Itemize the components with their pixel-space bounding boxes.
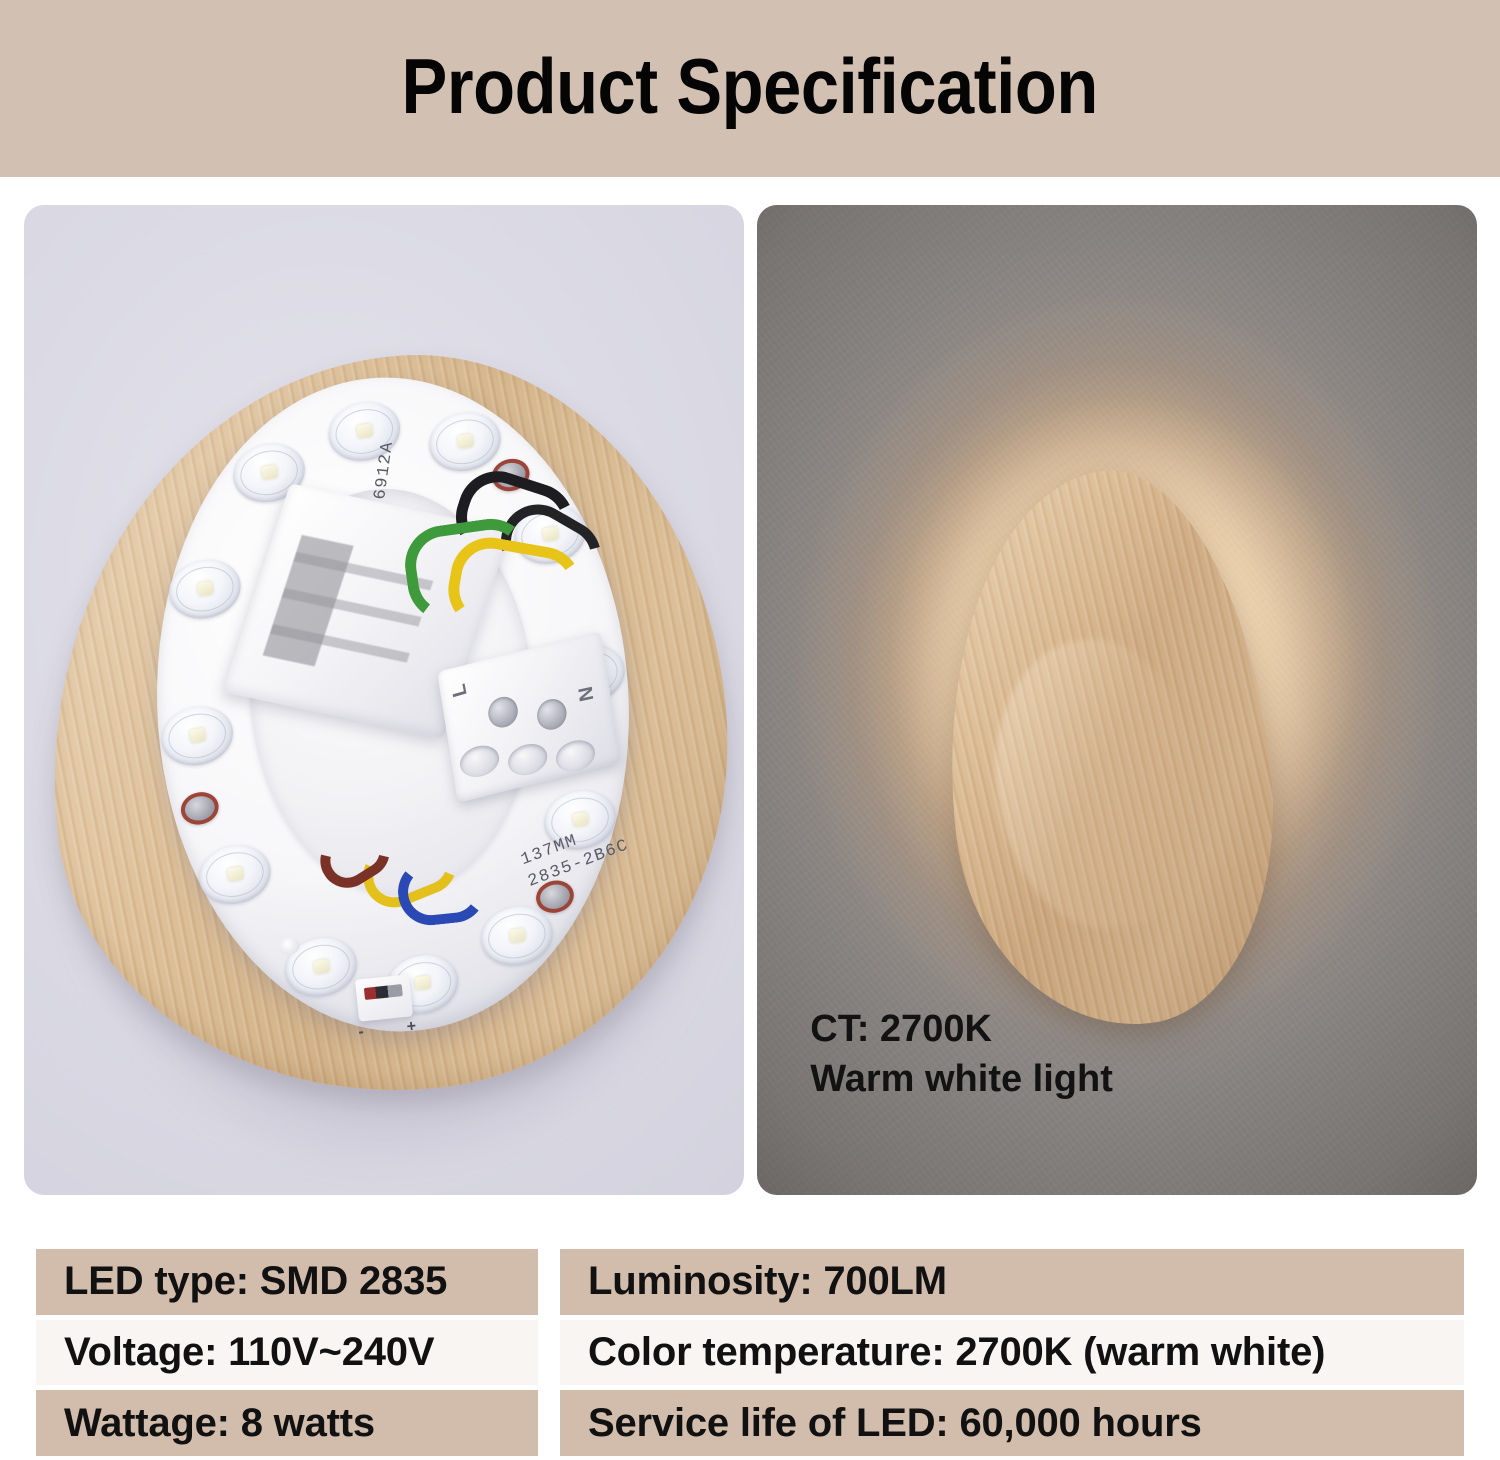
terminal-label-l: L (448, 681, 473, 699)
led-lens (426, 408, 503, 477)
led-lens (478, 902, 555, 971)
lit-sconce-photo: CT: 2700K Warm white light (757, 205, 1477, 1195)
spec-row-service-life: Service life of LED: 60,000 hours (560, 1390, 1464, 1456)
spec-row-color-temperature: Color temperature: 2700K (warm white) (560, 1320, 1464, 1386)
spec-column-left: LED type: SMD 2835 Voltage: 110V~240V Wa… (36, 1249, 538, 1456)
header-band: Product Specification (0, 0, 1500, 177)
mounting-screw (179, 789, 220, 827)
caption-ct-value: CT: 2700K (810, 1005, 1113, 1054)
polarity-plus: + (406, 1018, 417, 1037)
page-title: Product Specification (402, 47, 1098, 131)
spec-row-luminosity: Luminosity: 700LM (560, 1249, 1464, 1315)
terminal-screw (486, 693, 520, 730)
terminal-port (554, 736, 598, 775)
terminal-label-n: N (575, 684, 599, 703)
terminal-port (506, 739, 550, 778)
led-lens (158, 701, 235, 770)
color-temperature-caption: CT: 2700K Warm white light (810, 1005, 1113, 1104)
spec-column-right: Luminosity: 700LM Color temperature: 270… (560, 1249, 1464, 1456)
spec-row-voltage: Voltage: 110V~240V (36, 1320, 538, 1386)
specification-table: LED type: SMD 2835 Voltage: 110V~240V Wa… (0, 1249, 1500, 1456)
terminal-screw (535, 695, 569, 732)
led-pin-connector: - + (355, 974, 413, 1021)
product-photo-row: 137MM 2835-2B6C -6912A L N - (0, 177, 1500, 1227)
terminal-port (458, 741, 502, 780)
led-module-photo: 137MM 2835-2B6C -6912A L N - (24, 205, 744, 1195)
spec-row-wattage: Wattage: 8 watts (36, 1390, 538, 1456)
led-lens (167, 555, 244, 624)
caption-ct-label: Warm white light (810, 1055, 1113, 1104)
led-lens (197, 841, 274, 910)
spec-row-led-type: LED type: SMD 2835 (36, 1249, 538, 1315)
